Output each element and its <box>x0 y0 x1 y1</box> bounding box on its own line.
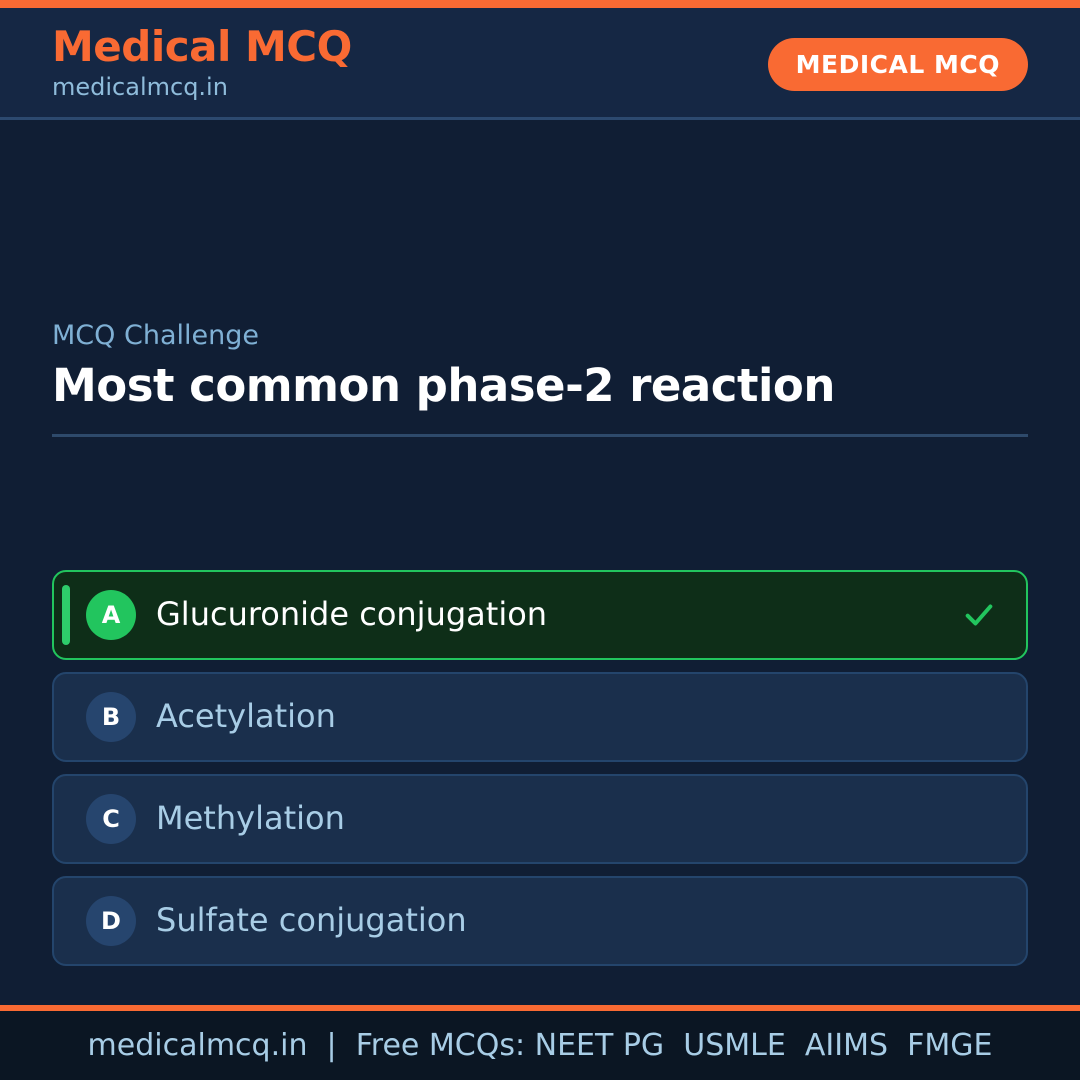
brand: Medical MCQ medicalmcq.in <box>52 26 352 102</box>
question-title: Most common phase-2 reaction <box>52 360 1028 412</box>
option-c[interactable]: C Methylation <box>52 774 1028 864</box>
option-letter-badge: D <box>86 896 136 946</box>
option-b[interactable]: B Acetylation <box>52 672 1028 762</box>
header-badge: MEDICAL MCQ <box>768 38 1028 91</box>
brand-subtitle: medicalmcq.in <box>52 72 352 102</box>
brand-title: Medical MCQ <box>52 26 352 69</box>
option-letter-badge: C <box>86 794 136 844</box>
mcq-card: Medical MCQ medicalmcq.in MEDICAL MCQ MC… <box>0 0 1080 1080</box>
option-a[interactable]: A Glucuronide conjugation <box>52 570 1028 660</box>
page-header: Medical MCQ medicalmcq.in MEDICAL MCQ <box>0 8 1080 120</box>
option-letter-badge: A <box>86 590 136 640</box>
footer-text: medicalmcq.in | Free MCQs: NEET PG USMLE… <box>88 1031 993 1061</box>
check-icon <box>962 598 996 632</box>
option-d[interactable]: D Sulfate conjugation <box>52 876 1028 966</box>
title-divider <box>52 434 1028 437</box>
question-eyebrow: MCQ Challenge <box>52 320 1028 352</box>
top-accent-bar <box>0 0 1080 8</box>
option-letter-badge: B <box>86 692 136 742</box>
page-footer: medicalmcq.in | Free MCQs: NEET PG USMLE… <box>0 1011 1080 1080</box>
main-content: MCQ Challenge Most common phase-2 reacti… <box>0 120 1080 1005</box>
option-label: Sulfate conjugation <box>156 903 996 938</box>
option-label: Methylation <box>156 801 996 836</box>
question-block: MCQ Challenge Most common phase-2 reacti… <box>52 320 1028 437</box>
option-label: Glucuronide conjugation <box>156 597 962 632</box>
option-label: Acetylation <box>156 699 996 734</box>
correct-accent-bar <box>62 585 70 645</box>
options-list: A Glucuronide conjugation B Acetylation … <box>52 570 1028 966</box>
